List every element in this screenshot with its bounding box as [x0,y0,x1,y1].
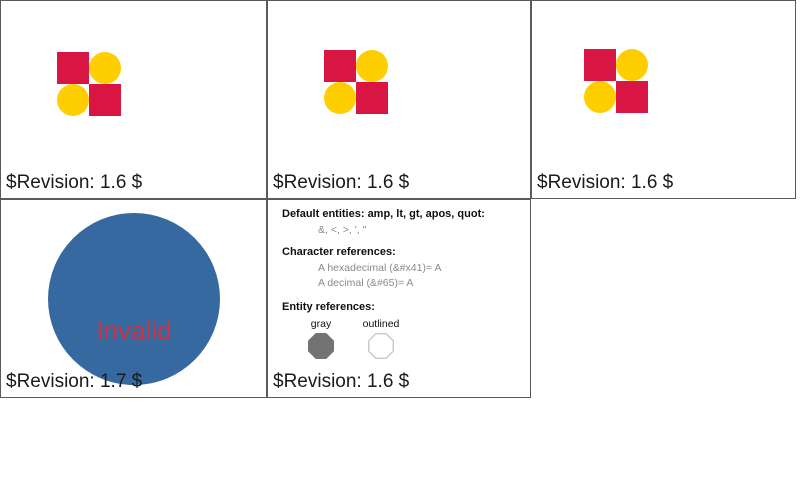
entity-references-block: Entity references: [282,301,524,313]
character-references-heading: Character references: [282,246,524,258]
logo-circle-top-right [89,52,121,84]
gray-octagon-label: gray [311,318,331,330]
logo-circle-bottom-left [57,84,89,116]
checker-logo [584,49,648,113]
revision-label: $Revision: 1.6 $ [273,371,409,393]
revision-label: $Revision: 1.6 $ [537,172,673,194]
outlined-octagon-icon [368,333,394,359]
logo-circle-bottom-left [584,81,616,113]
logo-square-top-left [324,50,356,82]
revision-label: $Revision: 1.6 $ [6,172,142,194]
character-references-block: Character references: A hexadecimal (&#x… [282,246,524,289]
logo-circle-top-right [356,50,388,82]
revision-label: $Revision: 1.7 $ [6,371,142,393]
logo-square-top-left [584,49,616,81]
checker-logo-panel-2: $Revision: 1.6 $ [267,0,531,199]
default-entities-values: &, <, >, ', " [318,224,524,236]
entity-references-heading: Entity references: [282,301,524,313]
invalid-circle-panel: Invalid $Revision: 1.7 $ [0,199,267,398]
checker-logo [324,50,388,114]
character-reference-decimal: A decimal (&#65)= A [318,277,524,289]
outlined-octagon-svg [368,333,394,359]
logo-circle-top-right [616,49,648,81]
logo-square-bottom-right [89,84,121,116]
logo-square-bottom-right [356,82,388,114]
logo-square-bottom-right [616,81,648,113]
default-entities-heading: Default entities: amp, lt, gt, apos, quo… [282,208,524,220]
logo-circle-bottom-left [324,82,356,114]
invalid-label: Invalid [96,316,171,347]
outlined-octagon-label: outlined [363,318,400,330]
gray-octagon-icon [308,333,334,359]
revision-label: $Revision: 1.6 $ [273,172,409,194]
svg-test-suite-canvas: $Revision: 1.6 $ $Revision: 1.6 $ $Revis… [0,0,800,480]
default-entities-block: Default entities: amp, lt, gt, apos, quo… [282,208,524,236]
character-reference-hex: A hexadecimal (&#x41)= A [318,262,524,274]
logo-square-top-left [57,52,89,84]
invalid-blue-circle [48,213,220,385]
checker-logo-panel-3: $Revision: 1.6 $ [531,0,796,199]
checker-logo-panel-1: $Revision: 1.6 $ [0,0,267,199]
entities-panel: Default entities: amp, lt, gt, apos, quo… [267,199,531,398]
checker-logo [57,52,121,116]
